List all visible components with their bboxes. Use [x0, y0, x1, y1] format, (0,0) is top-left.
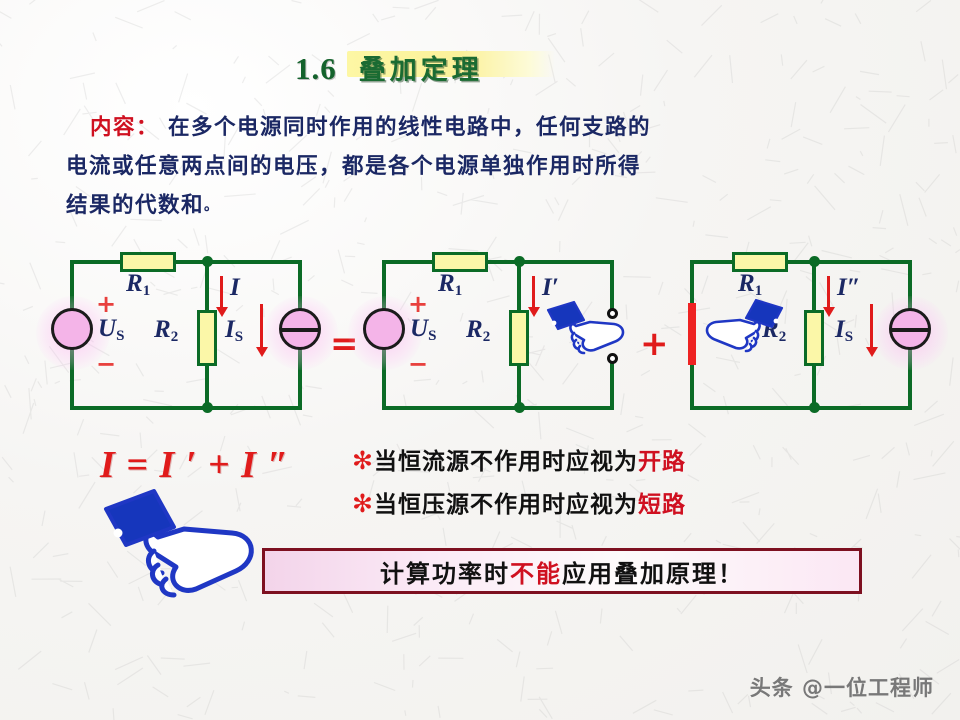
node-bottom [809, 402, 820, 413]
slide-page: 1.6 叠加定理 内容： 在多个电源同时作用的线性电路中，任何支路的 电流或任意… [0, 0, 960, 720]
circuit-diagrams: R1 R2 I + − US [0, 248, 960, 424]
label-r1: R1 [738, 270, 762, 300]
label-us: US [410, 315, 436, 345]
label-r1-sub: 1 [143, 283, 151, 299]
label-us: US [98, 315, 124, 345]
content-line-2: 电流或任意两点间的电压，都是各个电源单独作用时所得 [66, 147, 946, 186]
resistor-r2 [509, 310, 529, 366]
current-source-bar [891, 328, 929, 332]
label-r2-sub: 2 [483, 329, 491, 345]
label-us-letter: U [410, 315, 428, 342]
label-current-i-prime: I′ [542, 274, 559, 302]
label-r1: R1 [438, 270, 462, 300]
content-line-3-text: 结果的代数和 [66, 193, 204, 218]
note-item-1: ✻当恒流源不作用时应视为开路 [352, 440, 686, 483]
voltage-source-us [363, 308, 405, 350]
label-r2-sub: 2 [171, 329, 179, 345]
wire-top [70, 260, 302, 264]
title-highlight-wrap: 叠加定理 [359, 48, 483, 87]
voltage-source-us [51, 308, 93, 350]
label-r1-sub: 1 [455, 283, 463, 299]
title-number: 1.6 [295, 51, 337, 87]
current-source-arrow-is [260, 304, 263, 348]
circuit-combined: R1 R2 I + − US [70, 248, 310, 424]
node-top [514, 256, 525, 267]
note-text-2: 当恒压源不作用时应视为 [374, 492, 638, 518]
label-r2-letter: R [154, 316, 171, 343]
watermark: 头条 @一位工程师 [750, 672, 934, 702]
note-bullet-1: ✻ [352, 446, 374, 475]
note-item-2: ✻当恒压源不作用时应视为短路 [352, 483, 686, 526]
pointing-hand-icon [540, 300, 632, 360]
current-source-is [889, 308, 931, 350]
label-current-i-text: I [230, 274, 240, 301]
superposition-formula: I = I ′ + I ″ [100, 443, 289, 487]
label-is-letter: I [835, 316, 845, 343]
label-us-letter: U [98, 315, 116, 342]
content-label: 内容： [90, 115, 159, 140]
node-bottom [202, 402, 213, 413]
wire-top [690, 260, 912, 264]
warning-text: 计算功率时不能应用叠加原理！ [380, 554, 744, 589]
current-arrow-i [220, 276, 223, 308]
current-source-is [279, 308, 321, 350]
resistor-r2 [804, 310, 824, 366]
content-line-2-text: 电流或任意两点间的电压，都是各个电源单独作用时所得 [66, 154, 641, 179]
operator-plus: + [640, 324, 669, 364]
current-arrow-i-double-prime [827, 276, 830, 308]
short-circuit-bar [688, 303, 696, 365]
label-current-i-double-prime-text: I″ [837, 274, 861, 301]
slide-title: 1.6 叠加定理 [295, 48, 483, 87]
content-line-1-text: 在多个电源同时作用的线性电路中，任何支路的 [168, 115, 651, 140]
note-emphasis-2: 短路 [638, 492, 686, 518]
label-r1-letter: R [126, 270, 143, 297]
label-is: IS [225, 316, 243, 346]
label-current-i: I [230, 274, 240, 302]
label-is-sub: S [845, 329, 853, 345]
current-source-arrow-is [870, 304, 873, 348]
content-paragraph: 内容： 在多个电源同时作用的线性电路中，任何支路的 电流或任意两点间的电压，都是… [66, 108, 946, 226]
content-line-3: 结果的代数和。 [66, 186, 946, 226]
pointing-hand-icon [698, 298, 790, 358]
note-emphasis-1: 开路 [638, 449, 686, 475]
wire-top [382, 260, 614, 264]
label-is-letter: I [225, 316, 235, 343]
warning-box: 计算功率时不能应用叠加原理！ [262, 548, 862, 594]
label-r1-sub: 1 [755, 283, 763, 299]
label-is-sub: S [235, 329, 243, 345]
label-us-sub: S [116, 328, 124, 344]
label-r2-letter: R [466, 316, 483, 343]
label-current-i-double-prime: I″ [837, 274, 861, 302]
wire-bottom [70, 406, 302, 410]
warning-emphasis: 不能 [510, 560, 562, 588]
label-is: IS [835, 316, 853, 346]
note-bullet-2: ✻ [352, 489, 374, 518]
label-us-sub: S [428, 328, 436, 344]
label-r1: R1 [126, 270, 150, 300]
notes-list: ✻当恒流源不作用时应视为开路 ✻当恒压源不作用时应视为短路 [352, 440, 686, 526]
node-top [809, 256, 820, 267]
resistor-r1 [120, 252, 176, 272]
resistor-r1 [432, 252, 488, 272]
wire-bottom [690, 406, 912, 410]
label-r1-letter: R [438, 270, 455, 297]
warning-before: 计算功率时 [380, 560, 510, 588]
current-arrow-i-prime [532, 276, 535, 308]
wire-right-lower [610, 358, 614, 410]
node-top [202, 256, 213, 267]
polarity-plus-us: + [408, 292, 428, 316]
title-text: 叠加定理 [359, 55, 483, 86]
polarity-minus-us: − [408, 352, 428, 376]
resistor-r1 [732, 252, 788, 272]
label-r1-letter: R [738, 270, 755, 297]
label-current-i-prime-text: I′ [542, 274, 559, 301]
label-r2: R2 [466, 316, 490, 346]
content-line-1: 内容： 在多个电源同时作用的线性电路中，任何支路的 [66, 108, 946, 147]
circuit-current-only: R1 R2 I″ IS [690, 248, 930, 424]
polarity-minus-us: − [96, 352, 116, 376]
circuit-voltage-only: R1 R2 I′ + − US [382, 248, 622, 424]
wire-bottom [382, 406, 614, 410]
resistor-r2 [197, 310, 217, 366]
node-bottom [514, 402, 525, 413]
content-line-3-period: 。 [204, 198, 220, 214]
pointing-hand-icon-large [96, 487, 266, 607]
warning-after: 应用叠加原理！ [562, 560, 744, 588]
note-text-1: 当恒流源不作用时应视为 [374, 449, 638, 475]
polarity-plus-us: + [96, 292, 116, 316]
current-source-bar [281, 328, 319, 332]
label-r2: R2 [154, 316, 178, 346]
